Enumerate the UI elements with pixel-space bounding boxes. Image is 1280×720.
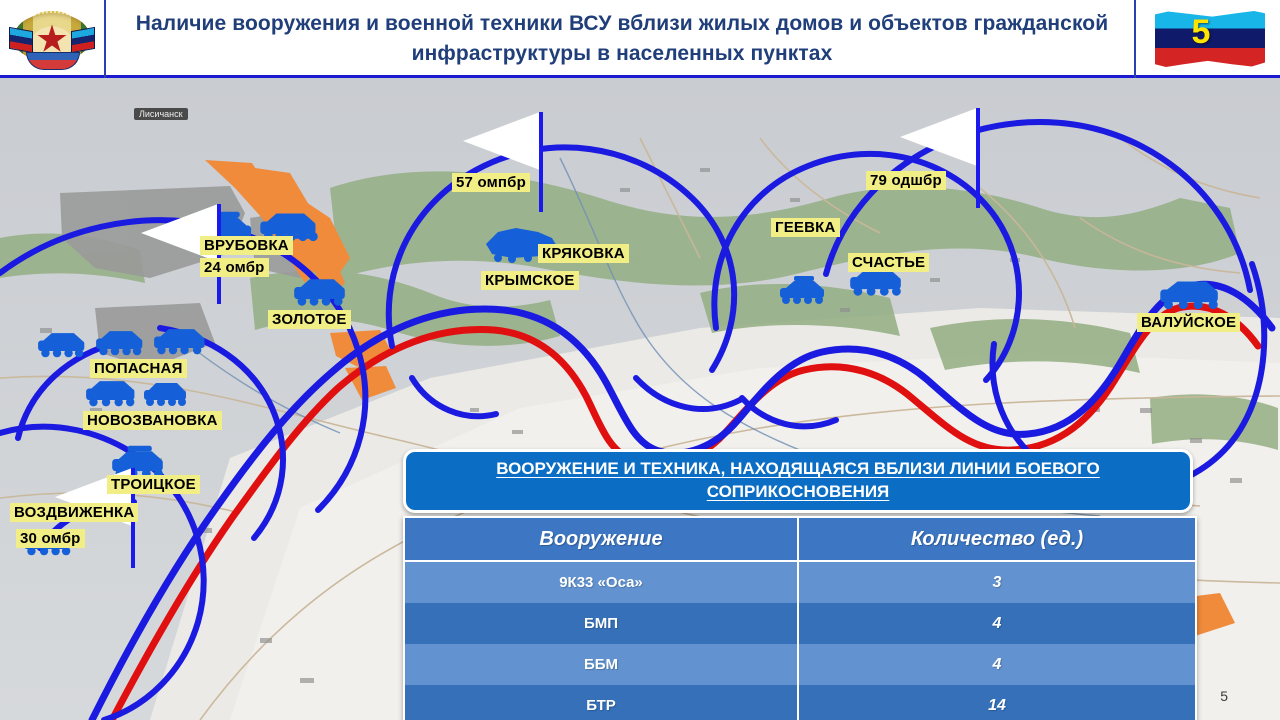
map-label-geevka: ГЕЕВКА	[771, 218, 840, 237]
weapons-table-panel: ВООРУЖЕНИЕ И ТЕХНИКА, НАХОДЯЩАЯСЯ ВБЛИЗИ…	[403, 449, 1193, 720]
column-header-quantity: Количество (ед.)	[798, 517, 1196, 561]
map-label-zolotoye: ЗОЛОТОЕ	[268, 310, 351, 329]
map-label-valuyskoye: ВАЛУЙСКОЕ	[1137, 313, 1240, 332]
pennant-79-odshbr-icon	[900, 108, 980, 208]
emblem-flag-left	[9, 26, 33, 52]
page-title: Наличие вооружения и военной техники ВСУ…	[112, 6, 1132, 72]
column-header-weapon: Вооружение	[404, 517, 798, 561]
weapons-table: Вооружение Количество (ед.) 9К33 «Оса» 3…	[403, 516, 1197, 720]
map-label-troitskoye: ТРОИЦКОЕ	[107, 475, 200, 494]
flag-number: 5	[1146, 4, 1256, 60]
emblem-base	[26, 52, 80, 70]
weapons-table-title: ВООРУЖЕНИЕ И ТЕХНИКА, НАХОДЯЩАЯСЯ ВБЛИЗИ…	[403, 449, 1193, 513]
header-divider-left	[104, 0, 106, 78]
cell-quantity: 14	[798, 685, 1196, 720]
city-label-lisichansk: Лисичанск	[134, 108, 188, 120]
cell-quantity: 3	[798, 561, 1196, 603]
map-label-vrubovka: ВРУБОВКА	[200, 236, 293, 255]
map-label-popasnaya: ПОПАСНАЯ	[90, 359, 187, 378]
table-row: ББМ 4	[404, 644, 1196, 685]
cell-weapon: БТР	[404, 685, 798, 720]
map-label-24-ombr: 24 омбр	[200, 258, 269, 277]
emblem-flag-right	[71, 26, 95, 52]
cell-quantity: 4	[798, 644, 1196, 685]
map-label-30-ombr: 30 омбр	[16, 529, 85, 548]
table-row: БМП 4	[404, 603, 1196, 644]
slide-root: Наличие вооружения и военной техники ВСУ…	[0, 0, 1280, 720]
cell-weapon: ББМ	[404, 644, 798, 685]
cell-weapon: 9К33 «Оса»	[404, 561, 798, 603]
operational-map[interactable]: Лисичанск ВРУБОВКА 24 омбр ЗОЛОТОЕ ПОПАС…	[0, 78, 1280, 720]
map-label-kryakovka: КРЯКОВКА	[538, 244, 629, 263]
pennant-57-ompbr-icon	[463, 112, 543, 212]
table-row: 9К33 «Оса» 3	[404, 561, 1196, 603]
table-row: БТР 14	[404, 685, 1196, 720]
slide-header: Наличие вооружения и военной техники ВСУ…	[0, 0, 1280, 78]
map-label-57-ompbr: 57 омпбр	[452, 173, 530, 192]
lpr-flag-icon: 5	[1146, 4, 1274, 74]
map-label-krymskoye: КРЫМСКОЕ	[481, 271, 579, 290]
map-label-79-odshbr: 79 одшбр	[866, 171, 946, 190]
cell-weapon: БМП	[404, 603, 798, 644]
page-number: 5	[1220, 688, 1228, 704]
map-label-novozvanovka: НОВОЗВАНОВКА	[83, 411, 222, 430]
map-label-schastye: СЧАСТЬЕ	[848, 253, 929, 272]
cell-quantity: 4	[798, 603, 1196, 644]
lpr-coat-of-arms-icon	[0, 0, 104, 75]
header-divider-right	[1134, 0, 1136, 78]
map-label-vozdvizhenka: ВОЗДВИЖЕНКА	[10, 503, 138, 522]
table-header-row: Вооружение Количество (ед.)	[404, 517, 1196, 561]
